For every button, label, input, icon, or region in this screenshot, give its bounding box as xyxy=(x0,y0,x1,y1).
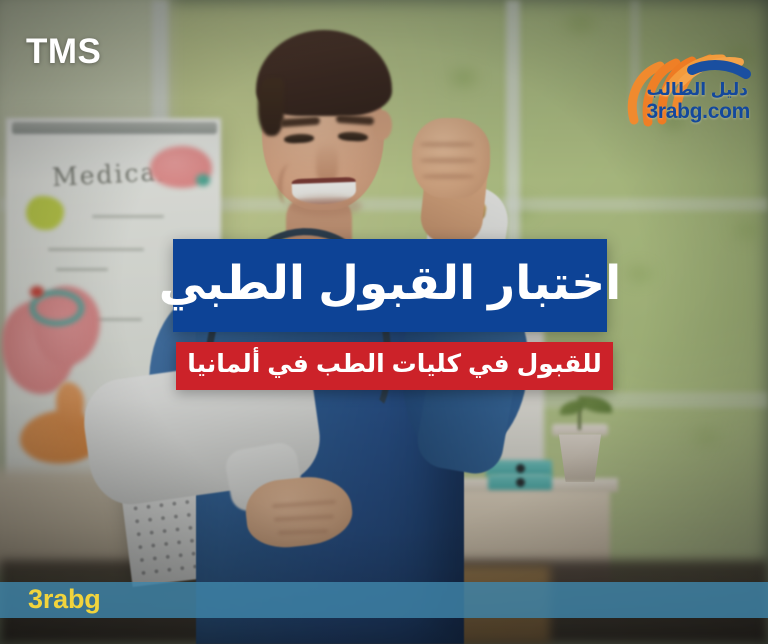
chin-shadow xyxy=(288,196,362,216)
footer-brand-text: 3rabg xyxy=(28,584,101,615)
headline-secondary-text: للقبول في كليات الطب في ألمانيا xyxy=(187,352,602,380)
logo-arabic-text: دليل الطالب xyxy=(647,80,748,100)
knuckle-crease xyxy=(420,142,474,147)
headline-primary-banner: اختبار القبول الطبي xyxy=(173,239,607,332)
hair-sideburn xyxy=(258,78,284,136)
corner-label-tms: TMS xyxy=(26,34,101,69)
knuckle-crease xyxy=(422,174,474,179)
headline-secondary-banner: للقبول في كليات الطب في ألمانيا xyxy=(176,342,613,390)
logo-domain-text: 3rabg.com xyxy=(647,100,751,124)
poster-canvas: Medical xyxy=(0,0,768,644)
ear xyxy=(372,110,392,140)
knuckle-crease xyxy=(420,158,476,163)
footer-watermark-strip: 3rabg xyxy=(0,582,768,618)
site-logo[interactable]: دليل الطالب 3rabg.com xyxy=(606,46,756,128)
headline-primary-text: اختبار القبول الطبي xyxy=(159,259,621,312)
